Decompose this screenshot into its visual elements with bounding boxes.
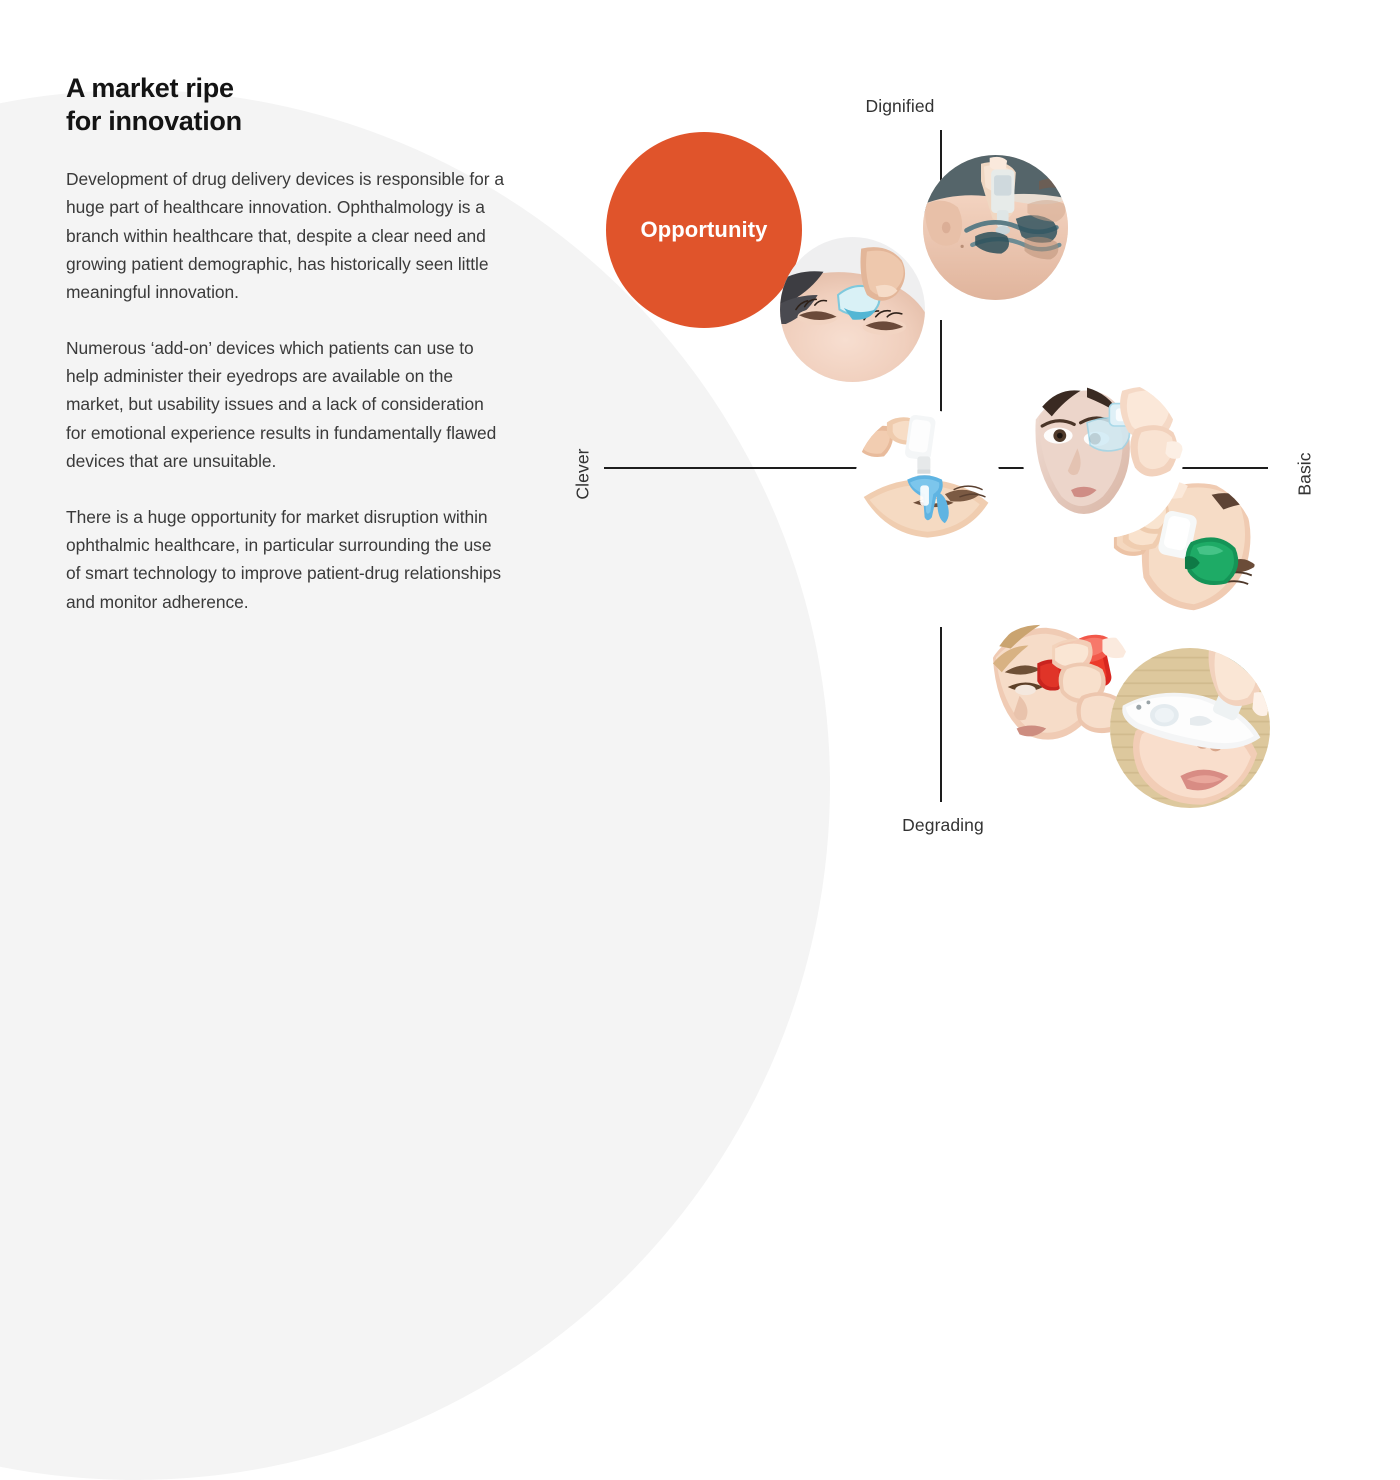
bottle-cap-guide-icon <box>855 410 1000 555</box>
page-title: A market ripe for innovation <box>66 72 504 139</box>
article-paragraph-1: Development of drug delivery devices is … <box>66 165 504 307</box>
eye-pillow-applicator-icon <box>780 237 925 382</box>
article-text-column: A market ripe for innovation Development… <box>66 72 504 616</box>
axis-label-clever: Clever <box>573 448 594 499</box>
article-paragraph-3: There is a huge opportunity for market d… <box>66 503 504 616</box>
clear-drop-guide-icon <box>1023 378 1183 538</box>
white-eye-mask-icon <box>1110 648 1270 808</box>
axis-label-basic: Basic <box>1295 452 1316 495</box>
photo-eyelid-clamp-device <box>923 155 1068 300</box>
photo-clear-drop-guide <box>1023 378 1183 538</box>
article-paragraph-2: Numerous ‘add-on’ devices which patients… <box>66 334 504 476</box>
axis-vertical-segment-bottom <box>940 627 942 802</box>
photo-white-eye-mask <box>1110 648 1270 808</box>
axis-label-dignified: Dignified <box>866 96 935 117</box>
eyelid-clamp-device-icon <box>923 155 1068 300</box>
opportunity-label: Opportunity <box>641 217 768 243</box>
positioning-matrix: Dignified Degrading Clever Basic <box>540 0 1400 933</box>
photo-bottle-cap-guide <box>855 410 1000 555</box>
axis-horizontal-segment-left <box>604 467 866 469</box>
photo-eye-pillow-applicator <box>780 237 925 382</box>
axis-label-degrading: Degrading <box>902 815 984 836</box>
opportunity-bubble[interactable]: Opportunity <box>606 132 802 328</box>
